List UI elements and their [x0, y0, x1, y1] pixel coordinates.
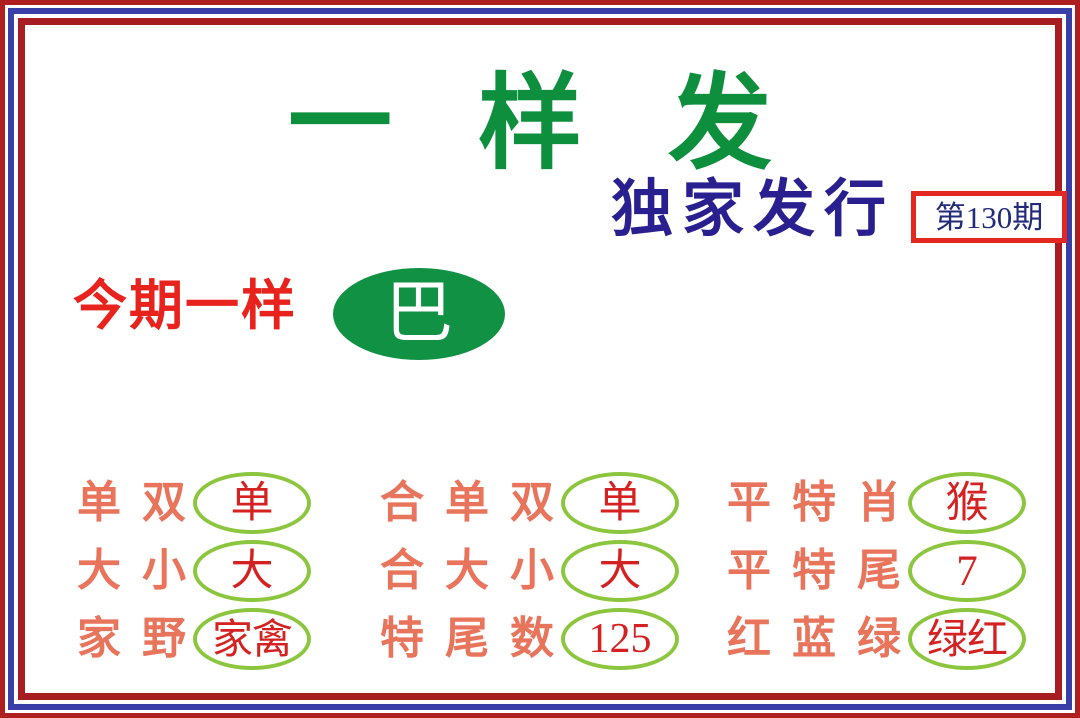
- row-value: 大: [231, 549, 274, 594]
- row-value: 家禽: [212, 617, 292, 662]
- feature-label: 今期一样: [73, 277, 297, 335]
- row-label: 大 小: [77, 547, 191, 595]
- poster-canvas: 一 样 发 独家发行 第130期 今期一样 巴 单 双 单 大 小: [25, 25, 1055, 693]
- grid-row: 平 特 肖 猴: [727, 468, 1072, 538]
- poster-root: 一 样 发 独家发行 第130期 今期一样 巴 单 双 单 大 小: [0, 0, 1080, 718]
- row-label: 合 单 双: [380, 479, 559, 527]
- row-value: 单: [231, 481, 274, 526]
- row-label: 特 尾 数: [380, 615, 559, 663]
- feature-value-oval: 巴: [333, 268, 505, 360]
- grid-row: 家 野 家禽: [77, 604, 377, 674]
- row-label: 红 蓝 绿: [727, 615, 906, 663]
- row-value: 猴: [946, 481, 989, 526]
- row-value-oval: 家禽: [193, 608, 311, 670]
- row-value: 125: [589, 617, 652, 662]
- issue-badge: 第130期: [911, 191, 1067, 243]
- grid-column-3: 平 特 肖 猴 平 特 尾 7 红 蓝 绿 绿红: [727, 468, 1072, 678]
- row-label: 家 野: [77, 615, 191, 663]
- grid-row: 平 特 尾 7: [727, 536, 1072, 606]
- grid-row: 合 大 小 大: [380, 536, 720, 606]
- grid-row: 单 双 单: [77, 468, 377, 538]
- grid-row: 红 蓝 绿 绿红: [727, 604, 1072, 674]
- row-value: 单: [599, 481, 642, 526]
- row-value: 大: [599, 549, 642, 594]
- row-label: 平 特 肖: [727, 479, 906, 527]
- grid-row: 大 小 大: [77, 536, 377, 606]
- grid-row: 特 尾 数 125: [380, 604, 720, 674]
- row-value-oval: 7: [908, 540, 1026, 602]
- feature-value: 巴: [385, 279, 453, 347]
- row-value-oval: 绿红: [908, 608, 1026, 670]
- row-value: 绿红: [927, 617, 1007, 662]
- row-value-oval: 单: [193, 472, 311, 534]
- row-value-oval: 猴: [908, 472, 1026, 534]
- row-label: 合 大 小: [380, 547, 559, 595]
- row-value-oval: 单: [561, 472, 679, 534]
- issue-number-label: 第130期: [935, 202, 1044, 233]
- row-label: 平 特 尾: [727, 547, 906, 595]
- row-value-oval: 大: [561, 540, 679, 602]
- row-value-oval: 125: [561, 608, 679, 670]
- prediction-grid: 单 双 单 大 小 大 家 野 家禽: [55, 468, 1075, 678]
- row-label: 单 双: [77, 479, 191, 527]
- grid-row: 合 单 双 单: [380, 468, 720, 538]
- sub-title: 独家发行: [425, 177, 895, 243]
- grid-column-1: 单 双 单 大 小 大 家 野 家禽: [77, 468, 377, 678]
- grid-column-2: 合 单 双 单 合 大 小 大 特 尾 数 125: [380, 468, 720, 678]
- row-value: 7: [956, 549, 978, 594]
- row-value-oval: 大: [193, 540, 311, 602]
- main-title: 一 样 发: [245, 73, 845, 177]
